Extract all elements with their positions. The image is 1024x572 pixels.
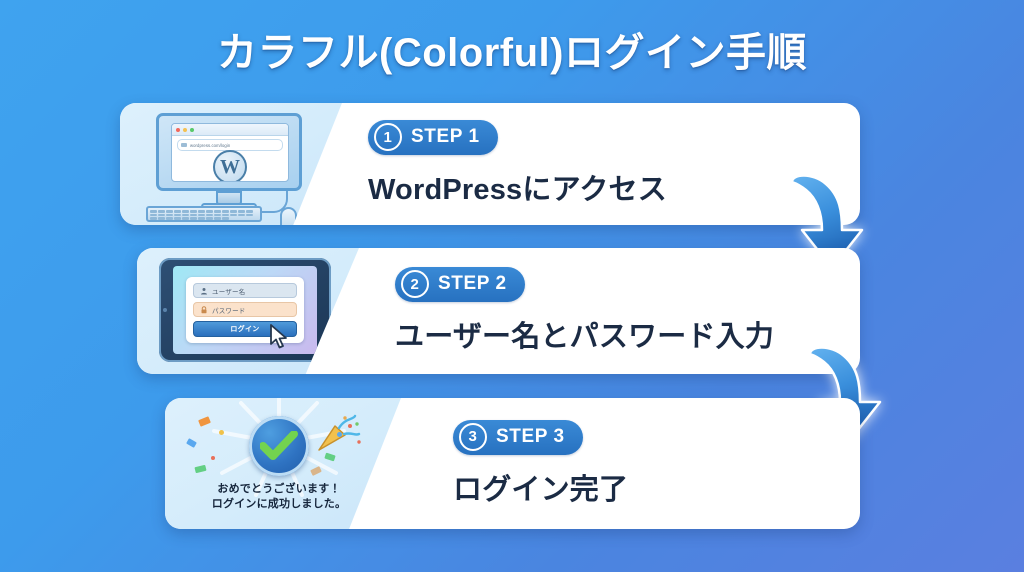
step-1-artwork: wordpress.com/login W	[120, 103, 342, 225]
confetti-piece	[219, 430, 224, 435]
tablet-screen: ユーザー名 パスワード ログイン	[173, 266, 317, 354]
step-2-content: 2 STEP 2 ユーザー名とパスワード入力	[395, 248, 860, 374]
person-icon	[200, 287, 208, 295]
step-3-headline: ログイン完了	[453, 466, 860, 508]
step-3-badge: 3 STEP 3	[453, 420, 583, 455]
success-illustration: おめでとうございます！ ログインに成功しました。	[175, 402, 383, 520]
step-2-headline: ユーザー名とパスワード入力	[395, 313, 860, 355]
step-card-3[interactable]: おめでとうございます！ ログインに成功しました。 3 STEP 3 ログイン完了	[165, 398, 860, 529]
browser-url-text: wordpress.com/login	[190, 143, 230, 148]
step-2-badge: 2 STEP 2	[395, 267, 525, 302]
step-1-badge: 1 STEP 1	[368, 120, 498, 155]
step-3-number: 3	[459, 423, 487, 451]
page-title: カラフル(Colorful)ログイン手順	[0, 20, 1024, 78]
mouse-cursor-icon	[269, 324, 291, 350]
success-message-line-2: ログインに成功しました。	[175, 497, 383, 512]
confetti-piece	[337, 432, 342, 437]
tablet-body: ユーザー名 パスワード ログイン	[159, 258, 331, 362]
tablet-camera-icon	[163, 308, 167, 312]
step-card-1[interactable]: wordpress.com/login W 1 STEP 1	[120, 103, 860, 225]
step-1-badge-label: STEP 1	[411, 126, 480, 148]
confetti-piece	[186, 438, 197, 448]
checkmark-icon	[260, 431, 298, 461]
tablet-illustration: ユーザー名 パスワード ログイン	[151, 256, 347, 366]
step-2-number: 2	[401, 270, 429, 298]
step-2-artwork: ユーザー名 パスワード ログイン	[137, 248, 359, 374]
step-3-badge-label: STEP 3	[496, 426, 565, 448]
success-message: おめでとうございます！ ログインに成功しました。	[175, 482, 383, 512]
username-placeholder: ユーザー名	[212, 286, 245, 296]
confetti-piece	[211, 456, 215, 460]
success-check-circle	[249, 416, 309, 476]
password-placeholder: パスワード	[212, 305, 246, 315]
lock-icon	[200, 306, 208, 314]
step-3-artwork: おめでとうございます！ ログインに成功しました。	[165, 398, 401, 529]
step-3-content: 3 STEP 3 ログイン完了	[453, 398, 860, 529]
monitor-body: wordpress.com/login W	[156, 113, 302, 191]
step-card-2[interactable]: ユーザー名 パスワード ログイン	[137, 248, 860, 374]
browser-titlebar	[172, 124, 288, 136]
traffic-light-red-icon	[176, 128, 180, 132]
success-message-line-1: おめでとうございます！	[175, 482, 383, 497]
step-2-badge-label: STEP 2	[438, 273, 507, 295]
keyboard-illustration	[146, 206, 262, 222]
step-1-number: 1	[374, 123, 402, 151]
username-field[interactable]: ユーザー名	[193, 283, 297, 298]
traffic-light-green-icon	[190, 128, 194, 132]
computer-mouse-illustration	[280, 207, 297, 225]
desktop-monitor-illustration: wordpress.com/login W	[134, 111, 324, 217]
wordpress-logo-icon: W	[213, 150, 247, 182]
traffic-light-yellow-icon	[183, 128, 187, 132]
infographic-stage: カラフル(Colorful)ログイン手順 wordpress.com/login	[0, 0, 1024, 572]
monitor-screen: wordpress.com/login W	[171, 123, 289, 182]
password-field[interactable]: パスワード	[193, 302, 297, 317]
